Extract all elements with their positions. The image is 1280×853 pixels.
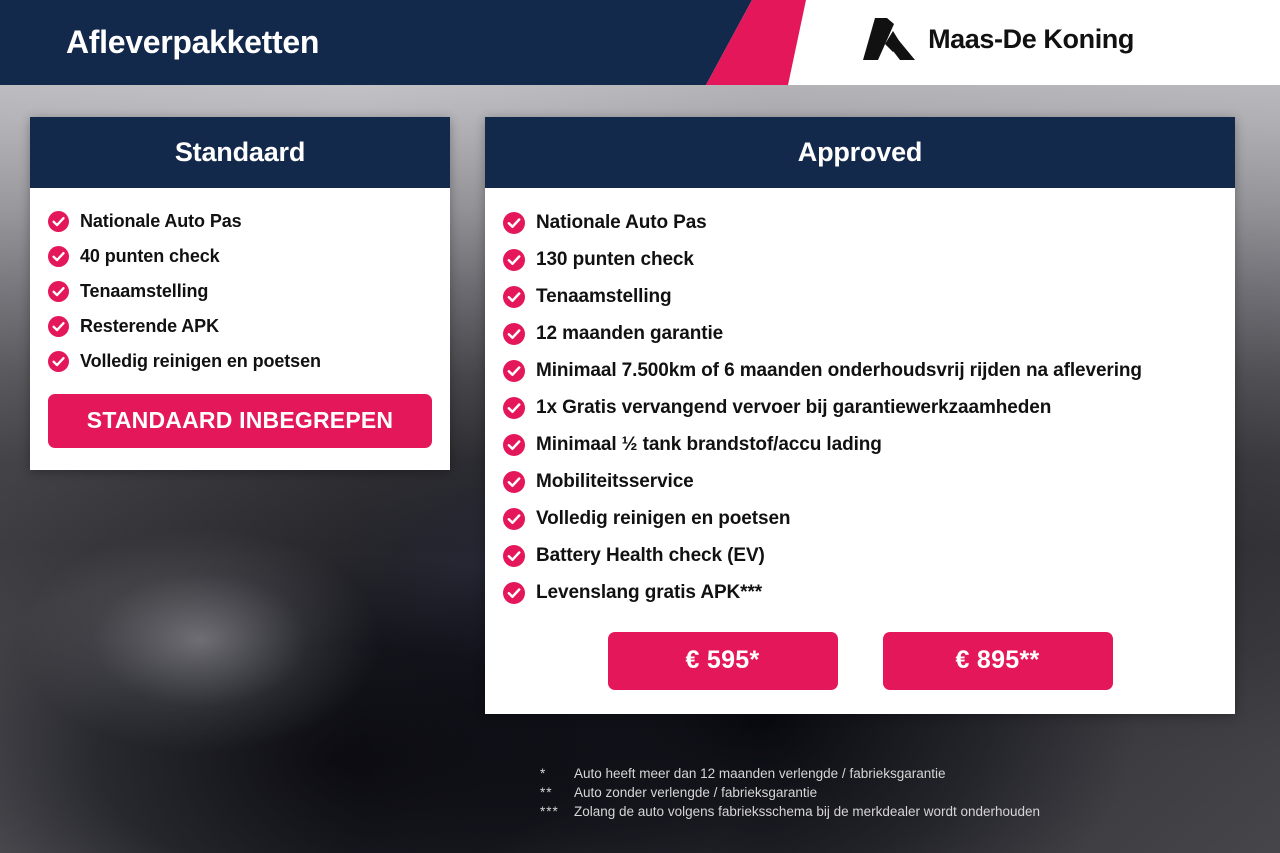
footnote-marker: ** bbox=[540, 783, 574, 802]
check-circle-icon bbox=[503, 508, 525, 530]
feature-label: 130 punten check bbox=[536, 245, 694, 274]
list-item: Volledig reinigen en poetsen bbox=[503, 504, 1217, 533]
footnote-text: Auto zonder verlengde / fabrieksgarantie bbox=[574, 783, 817, 802]
feature-label: Levenslang gratis APK*** bbox=[536, 578, 762, 607]
check-circle-icon bbox=[503, 212, 525, 234]
list-item: 40 punten check bbox=[48, 243, 432, 269]
check-circle-icon bbox=[503, 434, 525, 456]
package-header-standaard: Standaard bbox=[30, 117, 450, 188]
check-circle-icon bbox=[48, 281, 69, 302]
list-item: Battery Health check (EV) bbox=[503, 541, 1217, 570]
feature-label: Mobiliteitsservice bbox=[536, 467, 694, 496]
feature-label: Battery Health check (EV) bbox=[536, 541, 765, 570]
package-title-approved: Approved bbox=[495, 137, 1225, 168]
check-circle-icon bbox=[503, 545, 525, 567]
feature-label: Resterende APK bbox=[80, 313, 219, 339]
check-circle-icon bbox=[503, 582, 525, 604]
list-item: 1x Gratis vervangend vervoer bij garanti… bbox=[503, 393, 1217, 422]
feature-label: 1x Gratis vervangend vervoer bij garanti… bbox=[536, 393, 1051, 422]
package-body-standaard: Nationale Auto Pas 40 punten check Tenaa… bbox=[30, 188, 450, 470]
footnote-2: ** Auto zonder verlengde / fabrieksgaran… bbox=[540, 783, 1040, 802]
package-body-approved: Nationale Auto Pas 130 punten check Tena… bbox=[485, 188, 1235, 714]
footnote-3: *** Zolang de auto volgens fabrieksschem… bbox=[540, 802, 1040, 821]
list-item: 12 maanden garantie bbox=[503, 319, 1217, 348]
check-circle-icon bbox=[503, 360, 525, 382]
list-item: Nationale Auto Pas bbox=[503, 208, 1217, 237]
price-button-595[interactable]: € 595* bbox=[608, 632, 838, 690]
feature-label: 40 punten check bbox=[80, 243, 220, 269]
check-circle-icon bbox=[503, 286, 525, 308]
check-circle-icon bbox=[48, 211, 69, 232]
check-circle-icon bbox=[503, 323, 525, 345]
feature-label: Nationale Auto Pas bbox=[536, 208, 707, 237]
feature-label: 12 maanden garantie bbox=[536, 319, 723, 348]
package-card-standaard: Standaard Nationale Auto Pas 40 punten c… bbox=[30, 117, 450, 470]
list-item: Tenaamstelling bbox=[48, 278, 432, 304]
standaard-inbegrepen-button[interactable]: STANDAARD INBEGREPEN bbox=[48, 394, 432, 448]
price-button-row: € 595* € 895** bbox=[503, 632, 1217, 690]
check-circle-icon bbox=[48, 351, 69, 372]
feature-list-standaard: Nationale Auto Pas 40 punten check Tenaa… bbox=[48, 208, 432, 374]
check-circle-icon bbox=[503, 397, 525, 419]
check-circle-icon bbox=[503, 249, 525, 271]
feature-label: Tenaamstelling bbox=[80, 278, 208, 304]
list-item: Mobiliteitsservice bbox=[503, 467, 1217, 496]
footnote-1: * Auto heeft meer dan 12 maanden verleng… bbox=[540, 764, 1040, 783]
footnote-text: Zolang de auto volgens fabrieksschema bi… bbox=[574, 802, 1040, 821]
check-circle-icon bbox=[503, 471, 525, 493]
feature-label: Volledig reinigen en poetsen bbox=[80, 348, 321, 374]
list-item: 130 punten check bbox=[503, 245, 1217, 274]
feature-label: Volledig reinigen en poetsen bbox=[536, 504, 790, 533]
list-item: Levenslang gratis APK*** bbox=[503, 578, 1217, 607]
price-button-895[interactable]: € 895** bbox=[883, 632, 1113, 690]
footnote-marker: * bbox=[540, 764, 574, 783]
packages-container: Standaard Nationale Auto Pas 40 punten c… bbox=[0, 0, 1280, 853]
feature-list-approved: Nationale Auto Pas 130 punten check Tena… bbox=[503, 208, 1217, 607]
package-card-approved: Approved Nationale Auto Pas 130 punten c… bbox=[485, 117, 1235, 714]
check-circle-icon bbox=[48, 246, 69, 267]
feature-label: Minimaal ½ tank brandstof/accu lading bbox=[536, 430, 882, 459]
poster-root: Afleverpakketten Maas-De Koning Standaar… bbox=[0, 0, 1280, 853]
package-title-standaard: Standaard bbox=[40, 137, 440, 168]
list-item: Nationale Auto Pas bbox=[48, 208, 432, 234]
package-header-approved: Approved bbox=[485, 117, 1235, 188]
feature-label: Minimaal 7.500km of 6 maanden onderhouds… bbox=[536, 356, 1142, 385]
list-item: Tenaamstelling bbox=[503, 282, 1217, 311]
check-circle-icon bbox=[48, 316, 69, 337]
feature-label: Nationale Auto Pas bbox=[80, 208, 242, 234]
footnotes-block: * Auto heeft meer dan 12 maanden verleng… bbox=[540, 764, 1040, 821]
feature-label: Tenaamstelling bbox=[536, 282, 672, 311]
list-item: Minimaal 7.500km of 6 maanden onderhouds… bbox=[503, 356, 1217, 385]
list-item: Minimaal ½ tank brandstof/accu lading bbox=[503, 430, 1217, 459]
list-item: Volledig reinigen en poetsen bbox=[48, 348, 432, 374]
list-item: Resterende APK bbox=[48, 313, 432, 339]
footnote-marker: *** bbox=[540, 802, 574, 821]
footnote-text: Auto heeft meer dan 12 maanden verlengde… bbox=[574, 764, 946, 783]
